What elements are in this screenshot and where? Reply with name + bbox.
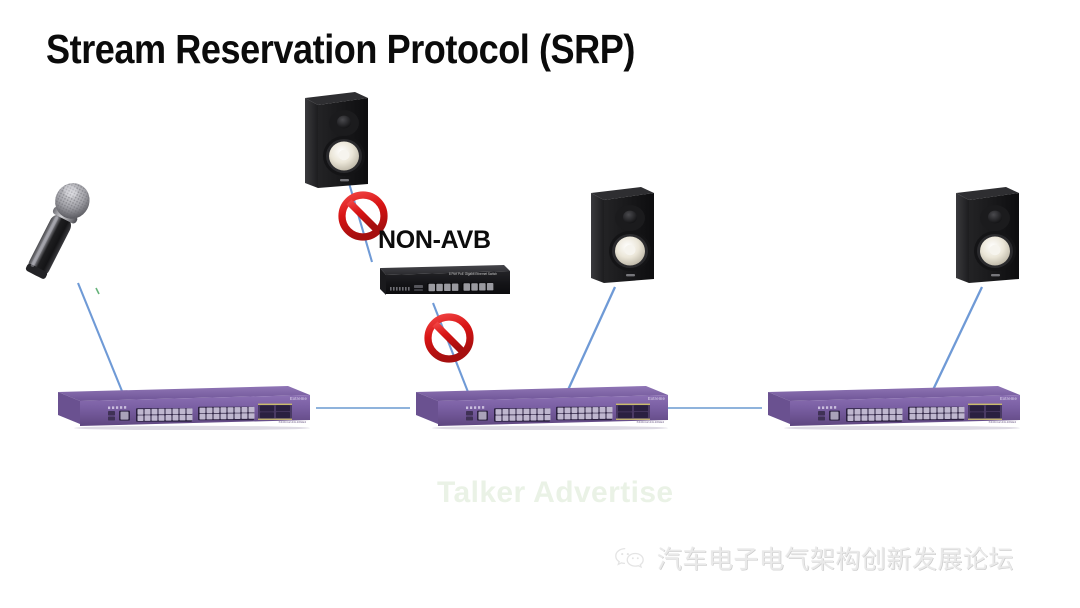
studio-monitor-speaker <box>578 183 656 287</box>
non-avb-poe-switch: 8 Port PoE Gigabit Ethernet Switch <box>366 262 514 302</box>
wechat-icon <box>612 545 648 571</box>
talker-advertise-label: Talker Advertise <box>437 476 674 510</box>
switch-brand-logo: Extreme <box>1000 396 1017 401</box>
switch-brand-logo: Extreme <box>290 396 307 401</box>
link-mic-to-switch1 <box>78 283 124 396</box>
avb-switch-1: Extreme X440-G2-24t-10GE4 <box>52 382 314 430</box>
connection-lines <box>0 0 1080 608</box>
slide-canvas: Stream Reservation Protocol (SRP) <box>0 0 1080 608</box>
watermark-text: 汽车电子电气架构创新发展论坛 <box>657 540 1014 576</box>
avb-switch-2: Extreme X440-G2-24t-10GE4 <box>410 382 672 430</box>
link-speaker2-to-switch2 <box>568 287 615 390</box>
non-avb-label: NON-AVB <box>378 226 491 255</box>
wechat-watermark: 汽车电子电气架构创新发展论坛 <box>612 540 1014 576</box>
link-speaker3-to-switch3 <box>932 287 982 392</box>
no-entry-sign-switch-link <box>424 313 474 363</box>
studio-monitor-speaker <box>292 88 370 192</box>
switch-brand-logo: Extreme <box>648 396 665 401</box>
avb-switch-3: Extreme X440-G2-24t-10GE4 <box>762 382 1024 430</box>
switch-model-text: X440-G2-24t-10GE4 <box>988 420 1016 424</box>
non-avb-switch-panel-text: 8 Port PoE Gigabit Ethernet Switch <box>449 272 497 276</box>
switch-model-text: X440-G2-24t-10GE4 <box>636 420 664 424</box>
microphone <box>8 176 104 290</box>
studio-monitor-speaker <box>943 183 1021 287</box>
switch-model-text: X440-G2-24t-10GE4 <box>278 420 306 424</box>
